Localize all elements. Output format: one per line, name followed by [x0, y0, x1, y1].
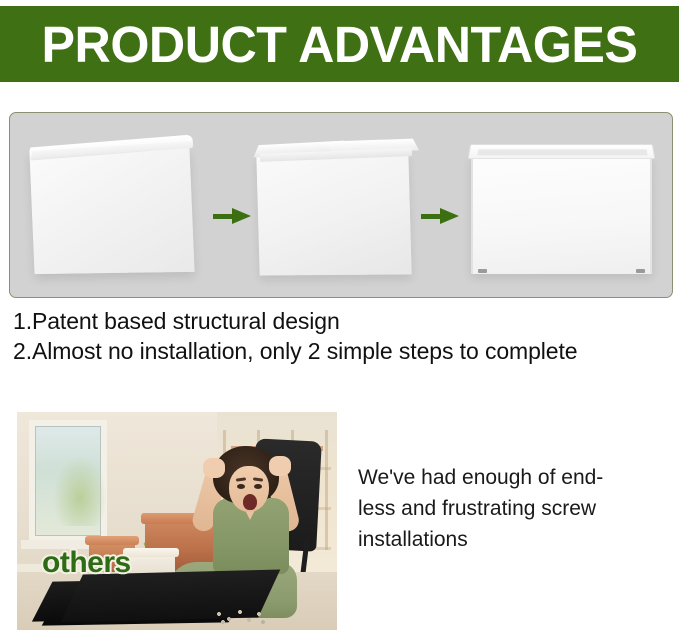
pain-point-line-1: We've had enough of end-: [358, 462, 658, 493]
page-title: PRODUCT ADVANTAGES: [42, 19, 638, 70]
box-left-edge: [471, 157, 473, 274]
photo-window-left: [29, 420, 107, 542]
advantage-item-2: 2.Almost no installation, only 2 simple …: [13, 336, 673, 366]
others-overlay-label: others: [42, 546, 131, 580]
assembly-steps-illustration: [10, 113, 672, 297]
photo-scattered-screws: [213, 608, 269, 626]
step-3-assembled-box: [469, 143, 654, 277]
box-interior: [477, 149, 647, 155]
advantages-list: 1.Patent based structural design 2.Almos…: [13, 306, 673, 366]
arrow-head: [232, 208, 251, 224]
advantage-item-1: 1.Patent based structural design: [13, 306, 673, 336]
box-open-top-rim: [468, 144, 656, 159]
product-advantages-page: PRODUCT ADVANTAGES: [0, 0, 679, 634]
pain-point-line-2: less and frustrating screw: [358, 493, 658, 524]
assembly-steps-panel: [9, 112, 673, 298]
photo-outdoor-greenery: [53, 456, 107, 526]
arrow-right-icon: [213, 208, 251, 224]
arrow-right-icon: [421, 208, 459, 224]
arrow-tail: [421, 214, 441, 219]
box-foot-right: [636, 269, 645, 273]
arrow-head: [440, 208, 459, 224]
photo-white-pot-rim: [123, 548, 179, 557]
box-foot-left: [478, 269, 487, 273]
photo-person-hand-right: [269, 456, 291, 476]
photo-person-eye-right: [254, 484, 262, 489]
lifestyle-photo: [17, 412, 337, 630]
pain-point-paragraph: We've had enough of end- less and frustr…: [358, 462, 658, 555]
photo-terracotta-pot-small-rim: [85, 536, 139, 545]
pain-point-line-3: installations: [358, 524, 658, 555]
photo-person-mouth: [243, 494, 257, 510]
photo-person-eye-left: [237, 484, 245, 489]
box-front-panel: [471, 156, 652, 274]
photo-person-hand-left: [203, 458, 225, 478]
flatpack-body: [29, 148, 194, 274]
unfolding-body: [256, 152, 411, 275]
arrow-tail: [213, 214, 233, 219]
header-banner: PRODUCT ADVANTAGES: [0, 6, 679, 82]
box-right-edge: [650, 157, 652, 274]
